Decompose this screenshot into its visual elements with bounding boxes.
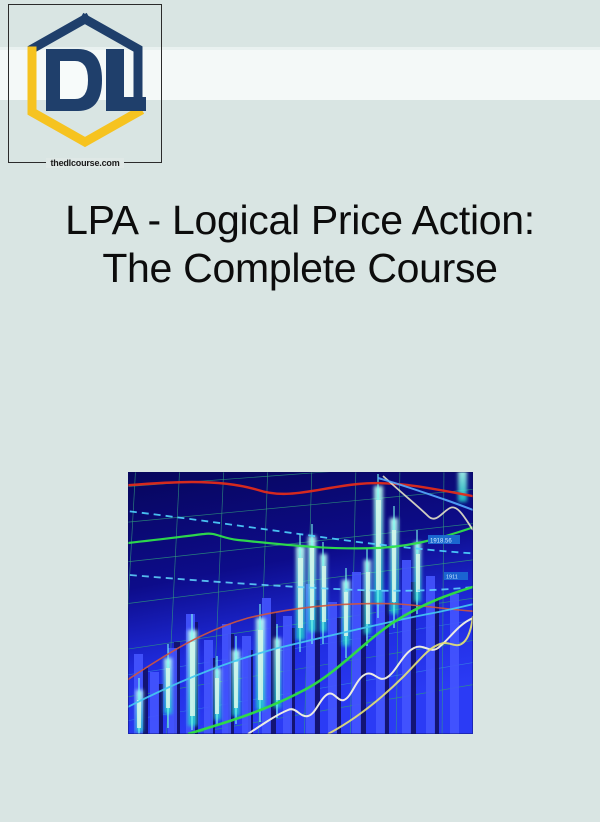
page-title: LPA - Logical Price Action: The Complete… bbox=[40, 196, 560, 292]
brand-logo-box[interactable]: thedlcourse.com bbox=[8, 4, 162, 163]
brand-url-label: thedlcourse.com bbox=[9, 157, 161, 169]
dl-hexagon-icon bbox=[20, 11, 150, 151]
product-card-page: thedlcourse.com LPA - Logical Price Acti… bbox=[0, 0, 600, 822]
price-tag-upper-label: 1918.56 bbox=[430, 539, 452, 545]
brand-logo-inner: thedlcourse.com bbox=[9, 5, 161, 162]
price-tag-lower-label: 1911 bbox=[446, 575, 458, 581]
brand-url-text: thedlcourse.com bbox=[46, 158, 123, 168]
chart-canvas: 1918.56 1911 bbox=[128, 472, 473, 734]
forex-trading-chart-image: 1918.56 1911 bbox=[128, 472, 473, 734]
